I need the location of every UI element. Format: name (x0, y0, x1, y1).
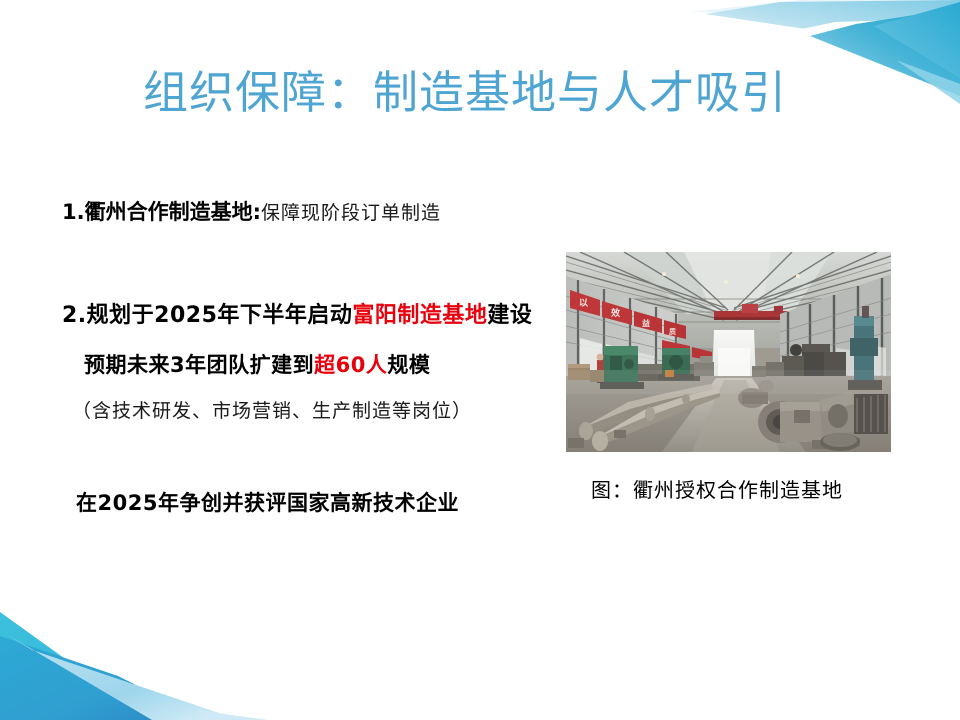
body-line-3-part1: 预期未来3年团队扩建到 (84, 353, 314, 377)
body-line-1: 1.衢州合作制造基地:保障现阶段订单制造 (62, 196, 441, 226)
body-line-2-highlight: 富阳制造基地 (352, 303, 487, 328)
photo-caption: 图：衢州授权合作制造基地 (591, 474, 843, 503)
factory-workshop-photo: 以 效 益 质 (566, 252, 891, 452)
body-line-1-lead: 1.衢州合作制造基地: (62, 200, 261, 224)
body-line-5: 在2025年争创并获评国家高新技术企业 (76, 487, 459, 517)
bottom-left-corner-decoration (0, 590, 420, 720)
body-line-1-tail: 保障现阶段订单制造 (261, 202, 441, 224)
body-line-3-part2: 规模 (387, 353, 430, 377)
body-line-2-part1: 2.规划于2025年下半年启动 (62, 303, 352, 328)
body-line-4: （含技术研发、市场营销、生产制造等岗位） (72, 396, 472, 423)
body-line-3: 预期未来3年团队扩建到超60人规模 (84, 349, 430, 379)
slide-canvas: 组织保障：制造基地与人才吸引 1.衢州合作制造基地:保障现阶段订单制造 2.规划… (0, 0, 960, 720)
body-line-2-part2: 建设 (487, 303, 532, 328)
body-line-3-highlight: 超60人 (314, 353, 387, 377)
slide-title: 组织保障：制造基地与人才吸引 (143, 66, 787, 120)
body-line-2: 2.规划于2025年下半年启动富阳制造基地建设 (62, 297, 532, 329)
